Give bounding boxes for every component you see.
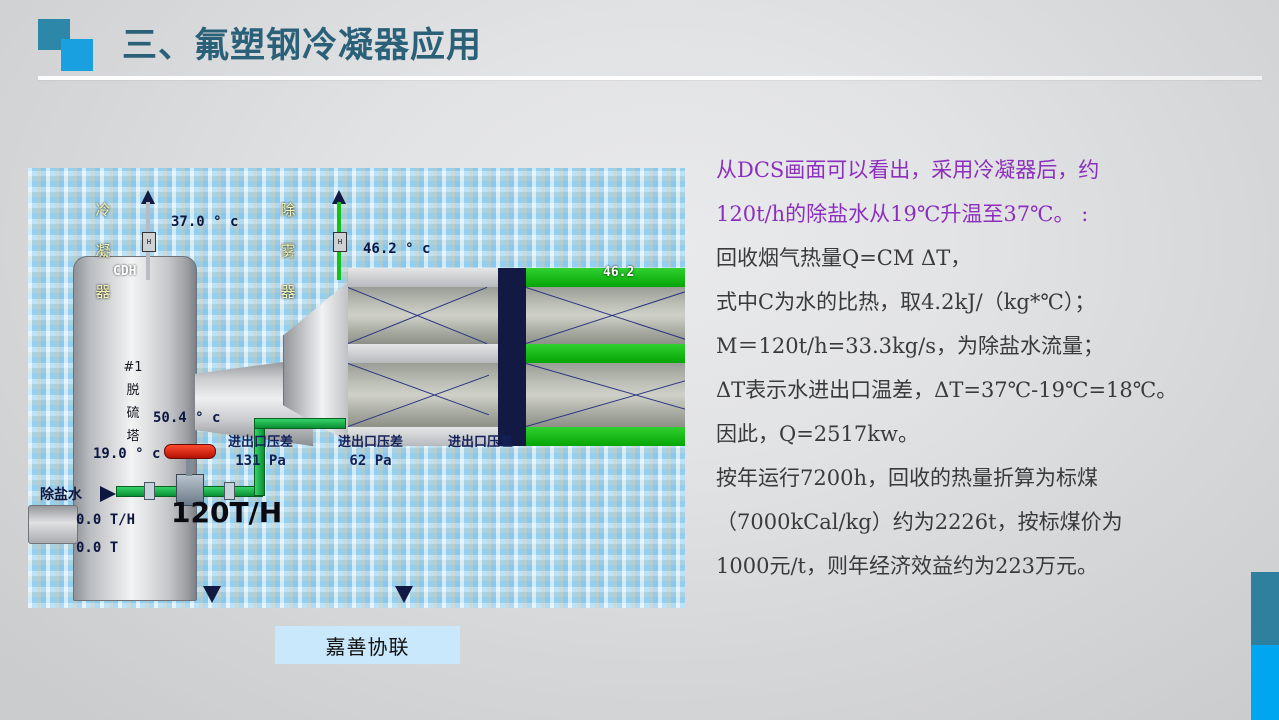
condenser-band-mid xyxy=(348,344,498,363)
pressure-drop-3: 进出口压差 xyxy=(448,434,513,452)
body-line-3: 回收烟气热量Q=CM ΔT， xyxy=(716,240,1221,276)
decor-square-light xyxy=(61,39,93,71)
body-line-2: 120t/h的除盐水从19℃升温至37℃。 : xyxy=(716,196,1221,232)
pressure-drop-1: 进出口压差 131 Pa xyxy=(228,434,293,470)
condenser-band-top xyxy=(348,268,498,287)
demister-band-bottom xyxy=(526,427,685,446)
tower-bottom-pipe xyxy=(28,505,78,544)
demister-band-value: 46.2 xyxy=(603,265,634,280)
cdh-tag: CDH xyxy=(113,264,136,279)
demineralized-water-label: 除盐水 xyxy=(40,484,82,504)
pressure-drop-1-label: 进出口压差 xyxy=(228,434,293,452)
accent-block-teal xyxy=(1251,572,1279,645)
body-line-8: 按年运行7200h，回收的热量折算为标煤 xyxy=(716,460,1221,496)
tower-char-2: 硫 xyxy=(116,402,150,425)
body-line-10: 1000元/t，则年经济效益约为223万元。 xyxy=(716,548,1221,584)
body-text-block: 从DCS画面可以看出，采用冷凝器后，约 120t/h的除盐水从19℃升温至37℃… xyxy=(716,152,1221,592)
demister-column xyxy=(526,268,685,446)
body-line-9: （7000kCal/kg）约为2226t，按标煤价为 xyxy=(716,504,1221,540)
condenser-column xyxy=(348,268,498,446)
demister-label: 除 雾 器 xyxy=(273,190,303,313)
demister-mesh-upper xyxy=(526,287,685,344)
condenser-demister-assembly xyxy=(348,268,685,446)
control-valve-actuator xyxy=(164,444,216,459)
body-line-1: 从DCS画面可以看出，采用冷凝器后，约 xyxy=(716,152,1221,188)
readout-inlet-temp: 50.4 ° c xyxy=(153,410,220,426)
pressure-drop-1-value: 131 Pa xyxy=(228,452,293,470)
demister-label-3: 器 xyxy=(273,272,303,313)
design-flow-label: 120T/H xyxy=(171,496,282,529)
tower-char-3: 塔 xyxy=(116,425,150,448)
body-line-7: 因此，Q=2517kw。 xyxy=(716,416,1221,452)
demister-band-mid xyxy=(526,344,685,363)
condenser-label-1: 冷 xyxy=(88,190,118,231)
down-arrow-icon-2 xyxy=(395,586,413,603)
title-divider xyxy=(38,76,1262,80)
readout-outlet-temp: 37.0 ° c xyxy=(171,214,238,230)
tower-tag: #1 xyxy=(116,356,150,379)
readout-stack-temp: 46.2 ° c xyxy=(363,241,430,257)
flow-rate-readout: 0.0 T/H xyxy=(76,512,135,528)
water-flow-arrow-icon xyxy=(100,486,116,502)
page-title: 三、氟塑钢冷凝器应用 xyxy=(122,17,482,68)
down-arrow-icon-1 xyxy=(203,586,221,603)
water-pipe-top xyxy=(254,418,346,429)
flow-total-readout: 0.0 T xyxy=(76,540,118,556)
condenser-label: 冷 凝 器 xyxy=(88,190,118,313)
assembly-divider xyxy=(498,268,526,446)
readout-water-temp: 19.0 ° c xyxy=(93,446,160,462)
body-line-6: ΔT表示水进出口温差，ΔT=37℃-19℃=18℃。 xyxy=(716,372,1221,408)
demister-mesh-lower xyxy=(526,363,685,427)
condenser-mesh-lower xyxy=(348,363,498,427)
valve-flange-left xyxy=(144,482,155,500)
tower-label: #1 脱 硫 塔 xyxy=(116,356,150,448)
body-line-5: M＝120t/h=33.3kg/s，为除盐水流量； xyxy=(716,328,1221,364)
body-line-4: 式中C为水的比热，取4.2kJ/（kg*℃）； xyxy=(716,284,1221,320)
condenser-mesh-upper xyxy=(348,287,498,344)
dcs-screenshot: #1 脱 硫 塔 冷 凝 器 除 雾 器 CDH 46.2 xyxy=(28,168,685,608)
demister-label-1: 除 xyxy=(273,190,303,231)
accent-block-blue xyxy=(1251,645,1279,720)
pressure-drop-3-label: 进出口压差 xyxy=(448,434,513,452)
pressure-drop-2-label: 进出口压差 xyxy=(338,434,403,452)
image-caption: 嘉善协联 xyxy=(275,626,460,664)
pressure-drop-2: 进出口压差 62 Pa xyxy=(338,434,403,470)
demister-label-2: 雾 xyxy=(273,231,303,272)
tower-char-1: 脱 xyxy=(116,379,150,402)
pressure-drop-2-value: 62 Pa xyxy=(338,452,403,470)
